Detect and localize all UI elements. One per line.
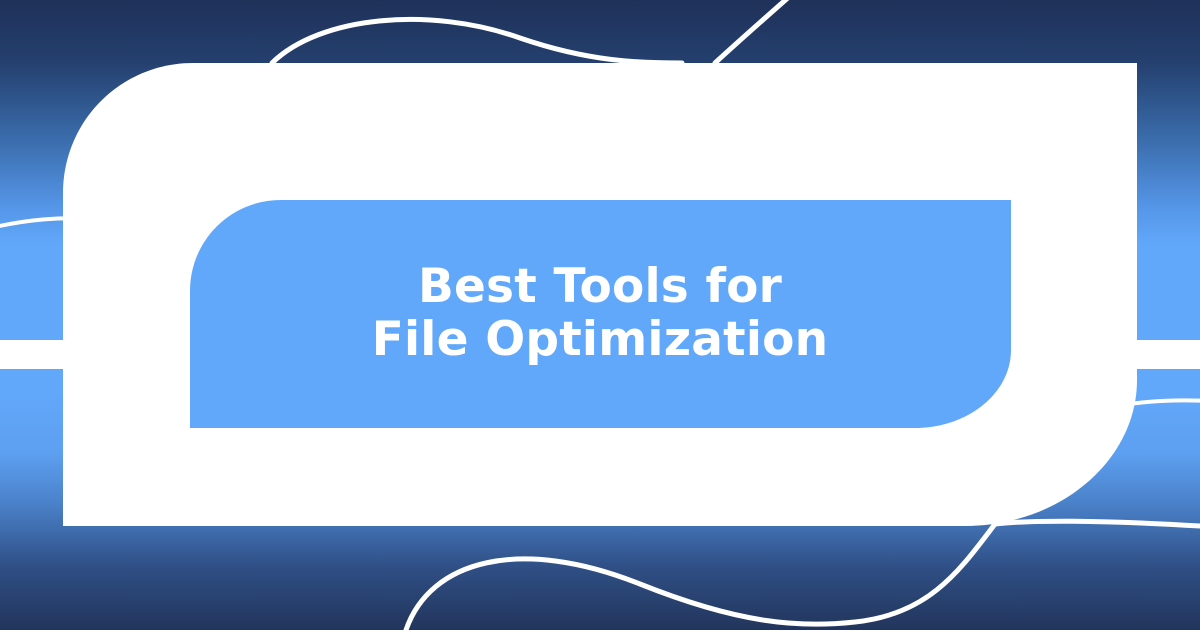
left-white-stripe [0, 340, 64, 369]
poster-canvas: Best Tools for File Optimization [0, 0, 1200, 630]
right-white-stripe [1136, 340, 1200, 369]
blue-inner-panel [190, 200, 1011, 428]
poster-artwork [0, 0, 1200, 630]
